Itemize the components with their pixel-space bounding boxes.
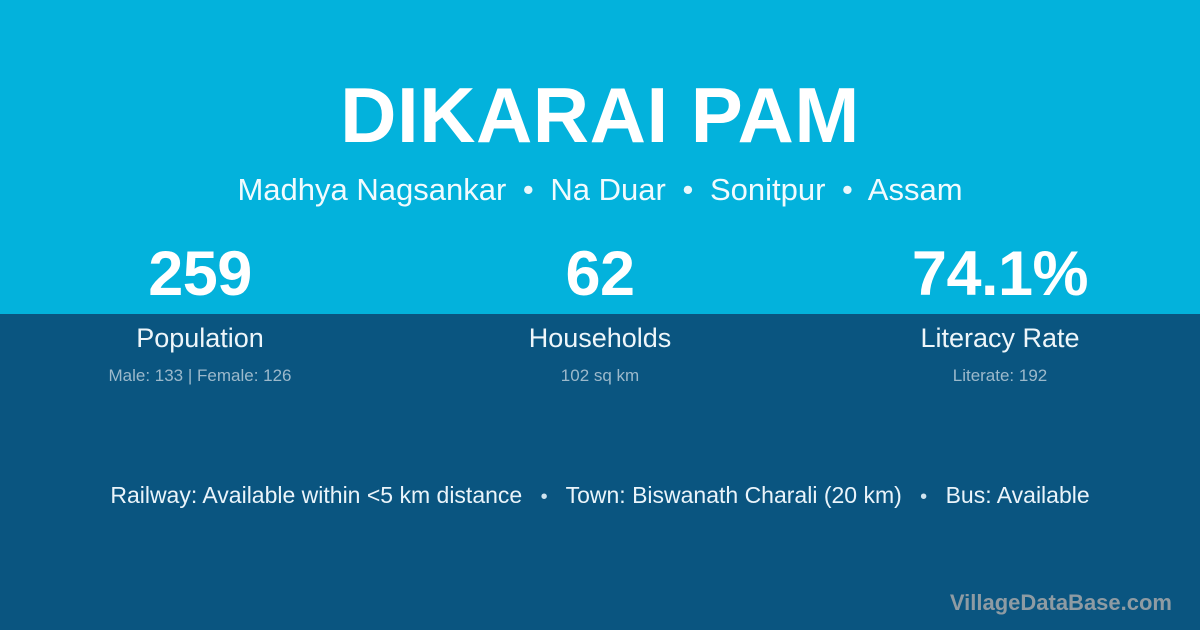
facilities-summary: Railway: Available within <5 km distance…: [0, 484, 1200, 507]
location-part-state: Assam: [868, 172, 963, 207]
stat-households-area: 102 sq km: [400, 367, 800, 384]
location-part-district: Sonitpur: [710, 172, 825, 207]
location-separator-2: •: [674, 172, 701, 207]
village-info-card: DIKARAI PAM Madhya Nagsankar • Na Duar •…: [0, 0, 1200, 630]
village-location-breadcrumb: Madhya Nagsankar • Na Duar • Sonitpur • …: [0, 174, 1200, 205]
facility-railway: Railway: Available within <5 km distance: [110, 482, 522, 508]
stat-households: 62 Households 102 sq km: [400, 243, 800, 384]
site-watermark: VillageDataBase.com: [950, 592, 1172, 614]
card-header: DIKARAI PAM Madhya Nagsankar • Na Duar •…: [0, 0, 1200, 205]
stat-population-value: 259: [0, 243, 400, 306]
location-separator-3: •: [834, 172, 861, 207]
facility-bus: Bus: Available: [946, 482, 1090, 508]
stat-population: 259 Population Male: 133 | Female: 126: [0, 243, 400, 384]
stat-population-breakdown: Male: 133 | Female: 126: [0, 367, 400, 384]
location-part-block: Na Duar: [550, 172, 665, 207]
village-name-title: DIKARAI PAM: [0, 76, 1200, 154]
statistics-row: 259 Population Male: 133 | Female: 126 6…: [0, 243, 1200, 384]
facility-separator-2: •: [908, 486, 939, 508]
location-separator-1: •: [515, 172, 542, 207]
stat-literacy-rate: 74.1% Literacy Rate Literate: 192: [800, 243, 1200, 384]
location-part-panchayat: Madhya Nagsankar: [237, 172, 506, 207]
stat-literacy-rate-value: 74.1%: [800, 243, 1200, 306]
facility-town: Town: Biswanath Charali (20 km): [566, 482, 902, 508]
stat-households-label: Households: [400, 325, 800, 352]
stat-literacy-count: Literate: 192: [800, 367, 1200, 384]
facility-separator-1: •: [529, 486, 560, 508]
stat-households-value: 62: [400, 243, 800, 306]
stat-literacy-rate-label: Literacy Rate: [800, 325, 1200, 352]
stat-population-label: Population: [0, 325, 400, 352]
